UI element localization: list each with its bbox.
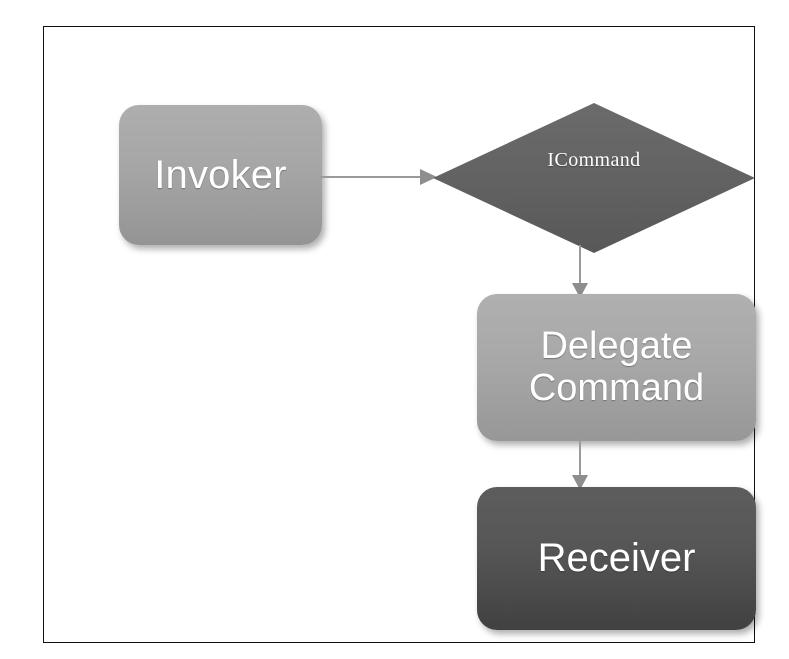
diamond-shape <box>433 103 755 253</box>
node-invoker[interactable]: Invoker <box>119 105 322 245</box>
node-delegate-command[interactable]: Delegate Command <box>477 294 756 441</box>
arrow-invoker-to-icommand <box>320 157 438 197</box>
diagram-frame: Invoker ICommand Delegate Command Rec <box>43 26 755 643</box>
node-receiver[interactable]: Receiver <box>477 487 756 630</box>
arrow-delegate-to-receiver <box>560 437 600 491</box>
node-invoker-label: Invoker <box>154 153 287 198</box>
node-delegate-command-label: Delegate Command <box>512 326 722 408</box>
node-receiver-label: Receiver <box>538 536 696 581</box>
node-icommand-label: ICommand <box>433 149 755 172</box>
diagram-canvas: Invoker ICommand Delegate Command Rec <box>0 0 789 659</box>
arrow-icommand-to-delegate <box>560 245 600 299</box>
node-icommand[interactable]: ICommand <box>433 103 755 253</box>
